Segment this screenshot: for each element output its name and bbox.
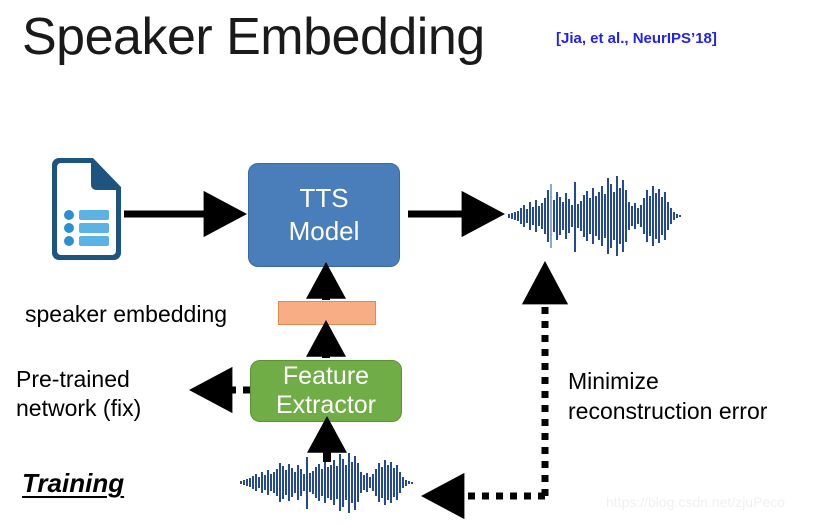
page-title: Speaker Embedding (22, 6, 485, 68)
citation-label: [Jia, et al., NeurIPS’18] (556, 30, 717, 47)
feature-extractor-line2: Extractor (276, 391, 376, 420)
feature-extractor-box[interactable]: Feature Extractor (250, 360, 402, 422)
minimize-line2: reconstruction error (568, 396, 813, 426)
speaker-embedding-bar[interactable] (278, 301, 376, 325)
audio-waveform-icon-input (238, 450, 416, 516)
training-section-label: Training (22, 468, 124, 499)
speaker-embedding-label: speaker embedding (25, 301, 227, 327)
tts-model-line1: TTS (299, 182, 348, 215)
audio-waveform-icon-output (506, 172, 684, 260)
slide-canvas: Speaker Embedding [Jia, et al., NeurIPS’… (0, 0, 813, 524)
minimize-line1: Minimize (568, 366, 813, 396)
document-icon (46, 157, 122, 261)
minimize-reconstruction-error-label: Minimize reconstruction error (568, 366, 813, 426)
pretrained-network-label: Pre-trained network (fix) (16, 365, 226, 423)
pretrained-network-line1: Pre-trained (16, 365, 226, 394)
arrow-layer (0, 0, 813, 524)
tts-model-line2: Model (289, 215, 360, 248)
feature-extractor-line1: Feature (283, 362, 369, 391)
watermark-text: https://blog.csdn.net/zjuPeco (606, 494, 785, 510)
pretrained-network-line2: network (fix) (16, 394, 226, 423)
tts-model-box[interactable]: TTS Model (248, 163, 400, 267)
